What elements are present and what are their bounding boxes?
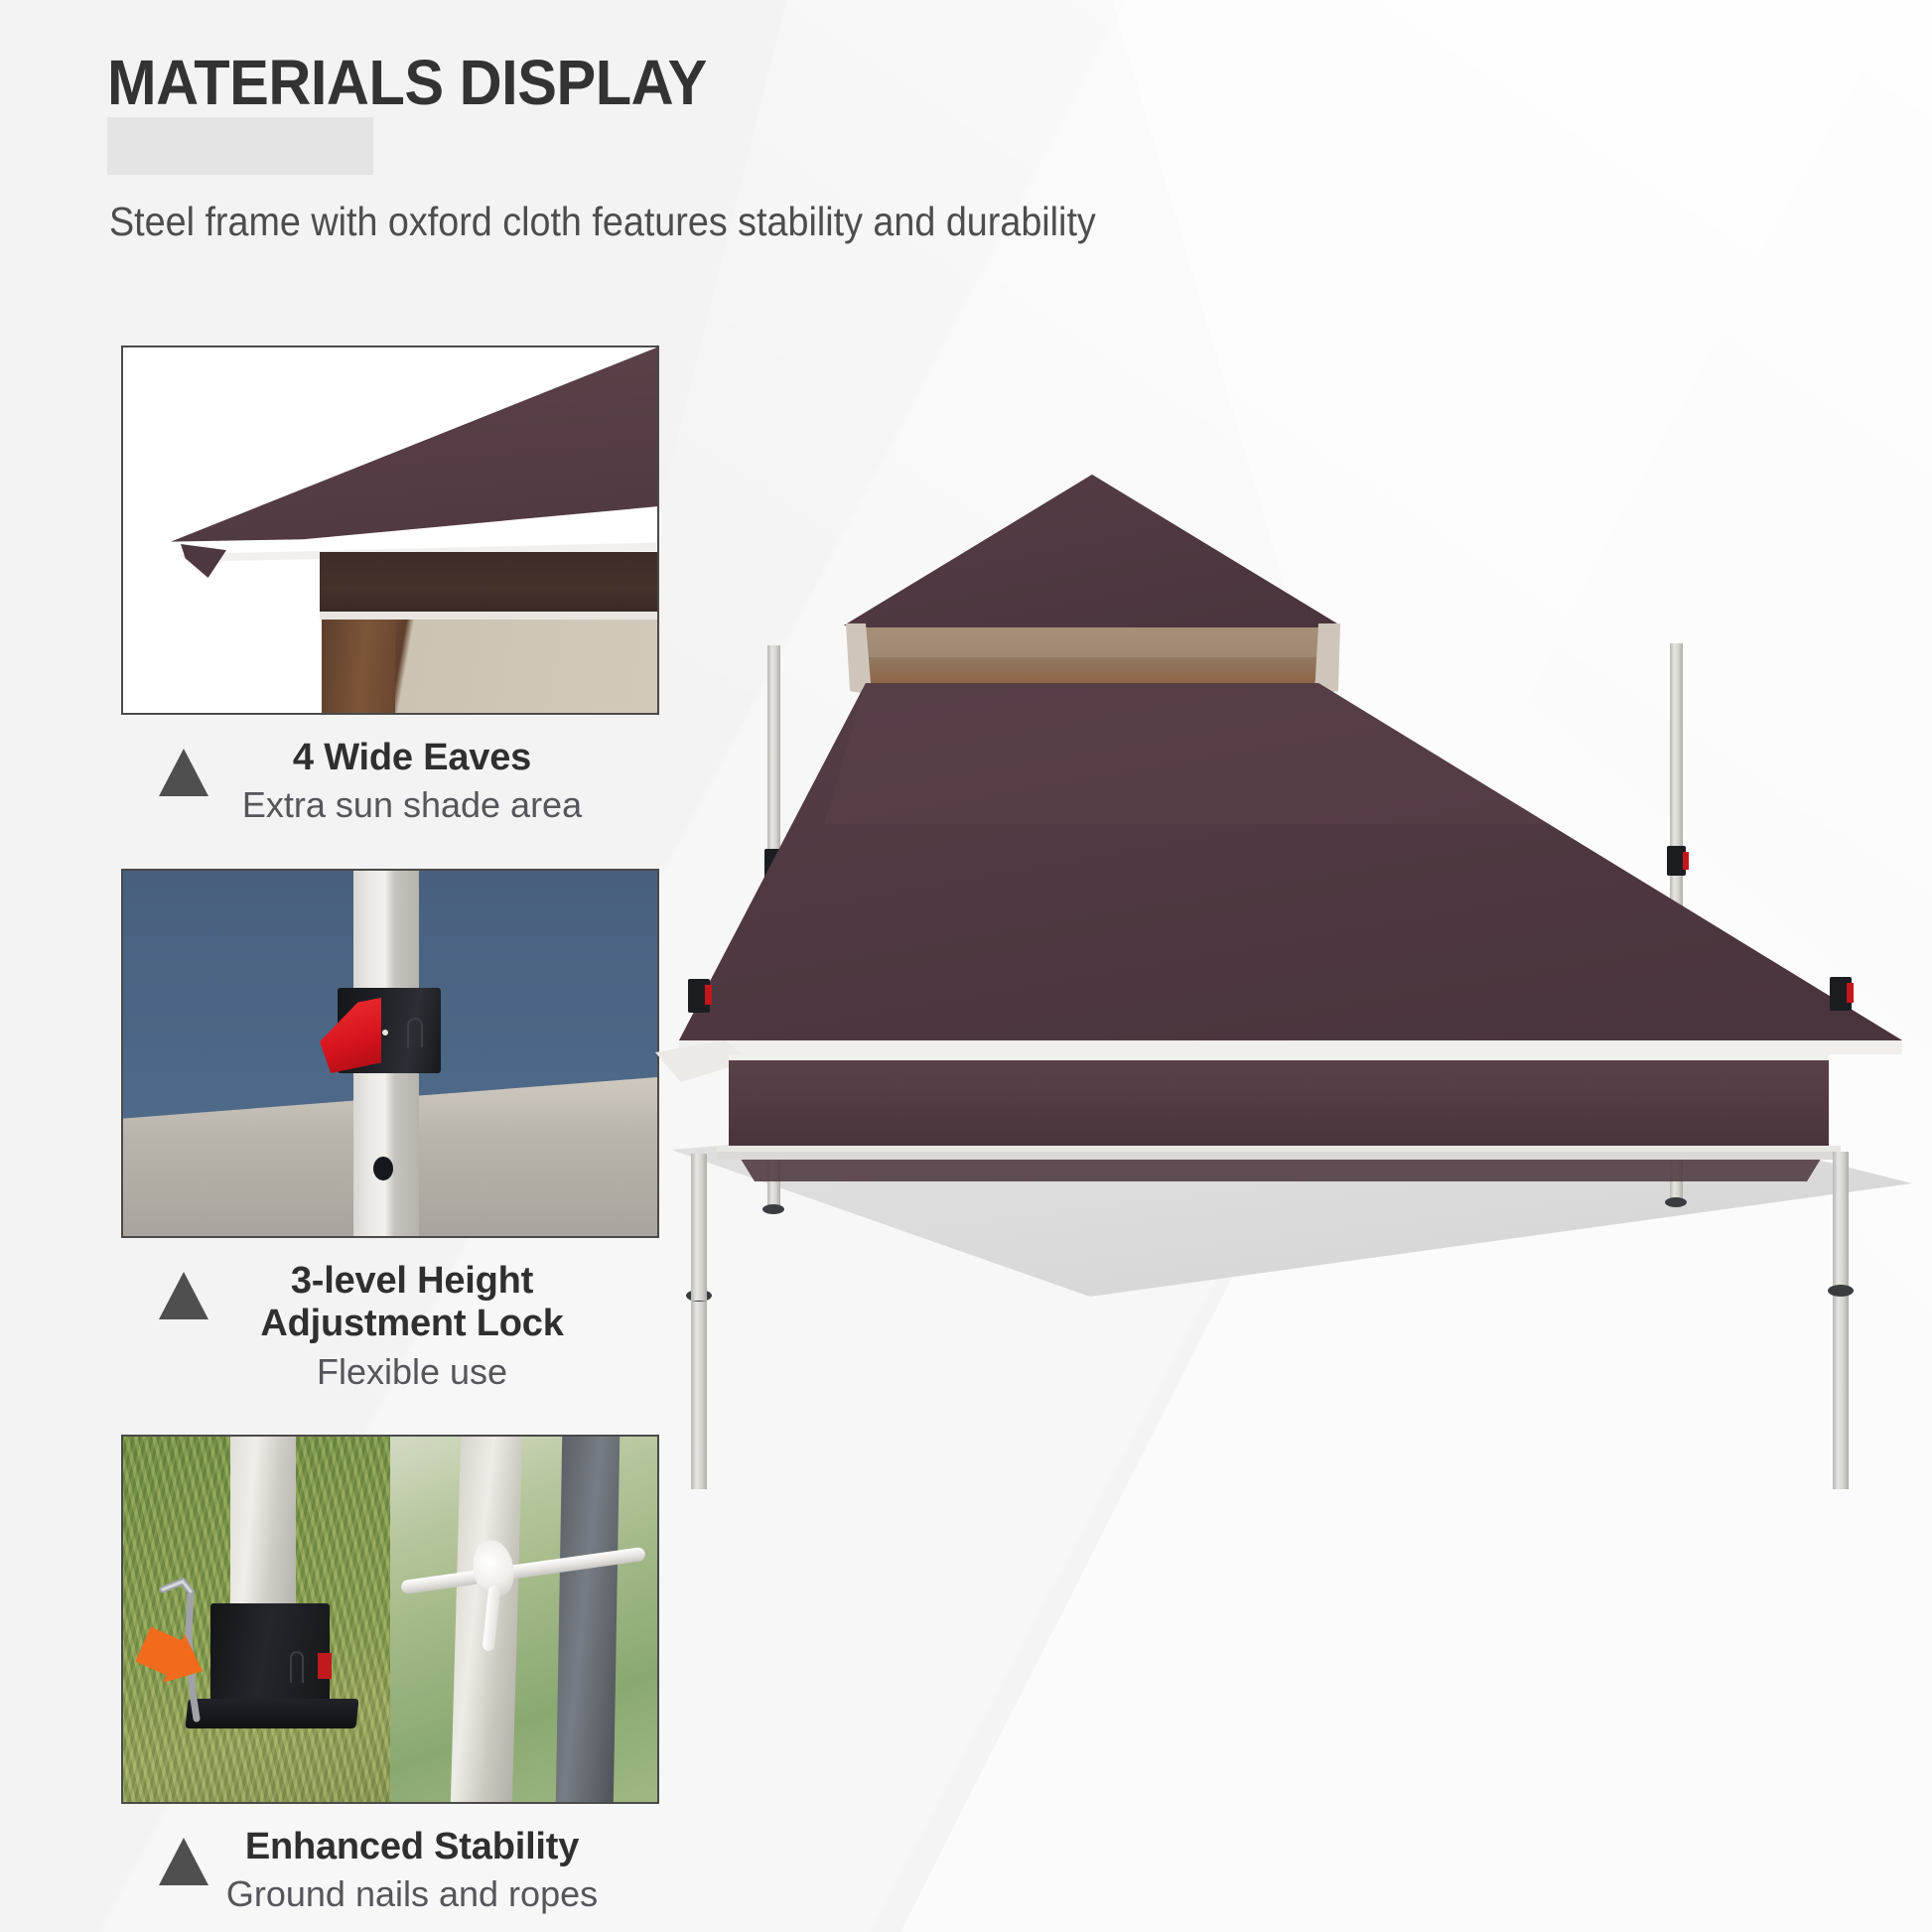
canopy-roof bbox=[679, 475, 1902, 1040]
leg-front-left-lower bbox=[691, 1154, 707, 1301]
valance-band bbox=[729, 1056, 1829, 1148]
pole-adjustment-hole bbox=[373, 1157, 393, 1180]
foot-slot-groove bbox=[290, 1651, 304, 1683]
eave-piping-top bbox=[679, 1040, 1902, 1054]
feature-title: 4 Wide Eaves bbox=[165, 737, 659, 779]
photo-height-lock bbox=[121, 869, 659, 1238]
foot-red-lever bbox=[318, 1653, 332, 1679]
page-title: MATERIALS DISPLAY bbox=[107, 46, 707, 119]
feature-card-height-lock: 3-level Height Adjustment Lock Flexible … bbox=[121, 869, 659, 1393]
stability-photo-right-half bbox=[390, 1437, 657, 1802]
roof-lower-sheen bbox=[824, 683, 1549, 824]
lock-screw-dot bbox=[382, 1030, 388, 1035]
photo-wide-eaves bbox=[121, 345, 659, 715]
canopy-valance-band bbox=[320, 552, 659, 614]
triangle-up-icon bbox=[159, 749, 208, 796]
triangle-up-icon bbox=[159, 1272, 208, 1319]
title-highlight-band bbox=[107, 117, 373, 175]
height-lock-photo-scene bbox=[123, 871, 657, 1236]
feature-subtitle: Flexible use bbox=[165, 1350, 659, 1393]
feature-title: Enhanced Stability bbox=[165, 1826, 659, 1868]
frame-rail bbox=[717, 1152, 1841, 1160]
stability-photo-left-half bbox=[123, 1437, 390, 1802]
feature-title-line2: Adjustment Lock bbox=[165, 1303, 659, 1345]
product-image-gazebo bbox=[655, 397, 1932, 1489]
caption-wide-eaves: 4 Wide Eaves Extra sun shade area bbox=[121, 737, 659, 827]
lock-slot-groove bbox=[407, 1018, 423, 1047]
roof-upper-top bbox=[844, 475, 1340, 647]
canopy-corner-post-fabric bbox=[322, 620, 395, 715]
caption-enhanced-stability: Enhanced Stability Ground nails and rope… bbox=[121, 1826, 659, 1916]
feature-subtitle: Extra sun shade area bbox=[165, 783, 659, 826]
valance-piping-top bbox=[729, 1054, 1829, 1060]
stability-photo-scene bbox=[123, 1437, 657, 1802]
foot-lock-housing bbox=[210, 1603, 330, 1711]
triangle-up-icon bbox=[159, 1838, 208, 1885]
feature-card-wide-eaves: 4 Wide Eaves Extra sun shade area bbox=[121, 345, 659, 827]
valance-white-piping bbox=[320, 612, 659, 620]
steel-pole-dark bbox=[556, 1437, 621, 1802]
eaves-photo-scene bbox=[123, 347, 657, 713]
feature-title-line1: 3-level Height bbox=[165, 1260, 659, 1303]
caption-height-lock: 3-level Height Adjustment Lock Flexible … bbox=[121, 1260, 659, 1393]
feature-subtitle: Ground nails and ropes bbox=[165, 1872, 659, 1915]
canopy-eave-and-valance bbox=[655, 1040, 1902, 1181]
roof-vent-shadow bbox=[852, 627, 1332, 657]
feature-card-enhanced-stability: Enhanced Stability Ground nails and rope… bbox=[121, 1435, 659, 1916]
photo-enhanced-stability bbox=[121, 1435, 659, 1804]
page-subtitle: Steel frame with oxford cloth features s… bbox=[109, 199, 1096, 245]
gazebo-illustration bbox=[655, 397, 1932, 1489]
